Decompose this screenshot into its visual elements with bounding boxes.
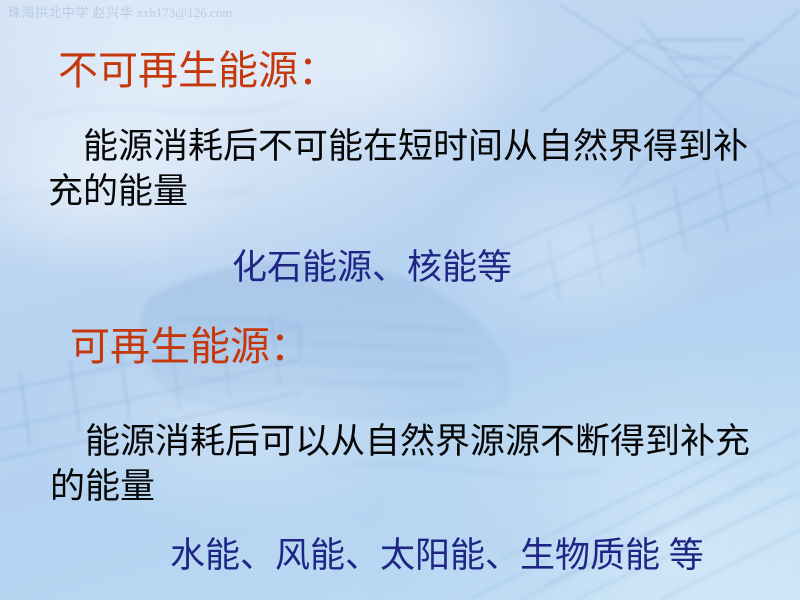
slide-canvas: 珠海拱北中学 赵兴华 zxh173@126.com 不可再生能源： 能源消耗后不… (0, 0, 800, 600)
definition-non-renewable-energy: 能源消耗后不可能在短时间从自然界得到补充的能量 (48, 124, 748, 214)
heading-non-renewable-energy: 不可再生能源： (58, 48, 338, 94)
heading-renewable-energy: 可再生能源： (70, 324, 310, 370)
definition-renewable-energy: 能源消耗后可以从自然界源源不断得到补充的能量 (50, 419, 770, 509)
examples-renewable-energy: 水能、风能、太阳能、生物质能 等 (170, 534, 704, 578)
slide-content: 不可再生能源： 能源消耗后不可能在短时间从自然界得到补充的能量 化石能源、核能等… (0, 0, 800, 600)
examples-non-renewable-energy: 化石能源、核能等 (232, 246, 512, 290)
